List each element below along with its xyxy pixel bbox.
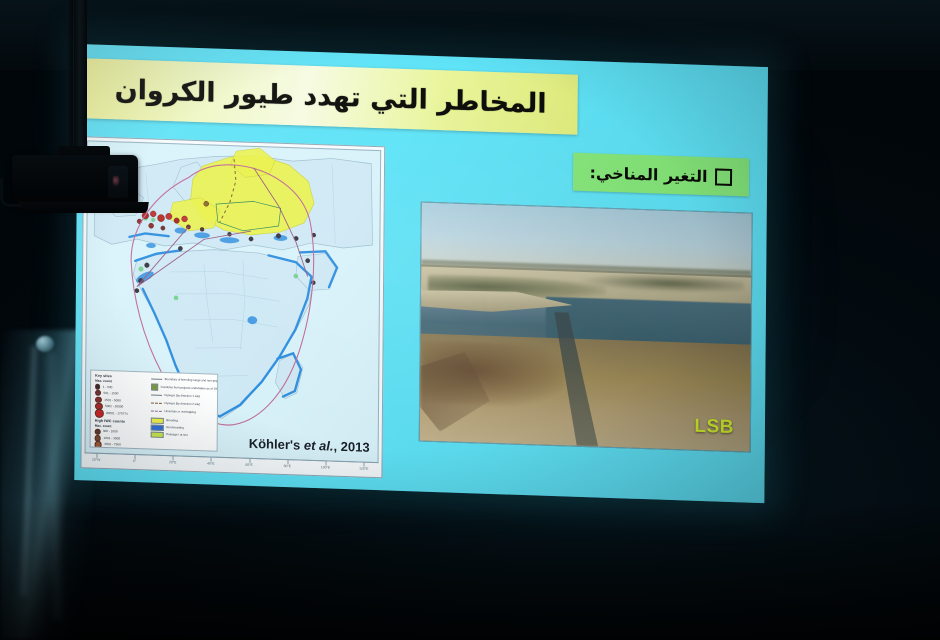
slide-title-band: المخاطر التي تهدد طيور الكروان: [83, 58, 578, 135]
legend-line-label: Uncertain or overlapping: [164, 410, 196, 415]
legend-swatch-breeding: [151, 417, 164, 424]
legend-line-item: Uncertain or overlapping: [151, 408, 213, 417]
caption-author: Köhler's: [249, 436, 304, 453]
projector-pole-shadow: [67, 0, 73, 148]
axis-tick-label: 20°W: [92, 458, 100, 462]
axis-tick-label: 60°E: [245, 463, 252, 467]
legend-swatch-item: Passage / at sea: [151, 432, 213, 440]
legend-line-label: Flyways (by direction 2 site): [164, 402, 200, 407]
slide-title: المخاطر التي تهدد طيور الكروان: [115, 74, 547, 119]
legend-label: 20001 - 170774: [106, 412, 128, 416]
legend-line-label: Countries from projects undertaken as of…: [161, 386, 219, 391]
legend-column-lines: Boundary of breeding range and non-popul…: [151, 376, 214, 448]
callout-climate-change: التغير المناخي:: [573, 153, 749, 197]
legend-label: 3001 - 7500: [104, 443, 121, 447]
legend-swatch-nonbreeding: [151, 424, 164, 431]
legend-dot-icon: [95, 409, 104, 418]
checkbox-icon: [715, 168, 732, 186]
map-legend: Key sites Max. count 1 - 500 501 - 1500: [90, 370, 219, 452]
legend-swatch-label: Breeding: [166, 419, 178, 423]
callout-text: التغير المناخي:: [589, 163, 707, 186]
legend-item: 20001 - 170774: [95, 410, 148, 417]
legend-column-sites: Key sites Max. count 1 - 500 501 - 1500: [95, 374, 149, 446]
legend-line-label: Flyways (by direction 1 site): [165, 394, 201, 399]
legend-label: 1501 - 5000: [104, 398, 121, 402]
axis-tick-label: 80°E: [284, 464, 291, 468]
legend-dot-icon: [95, 390, 101, 396]
photo-site-label: LSB: [694, 416, 734, 439]
legend-marker-icon: [151, 384, 158, 391]
legend-solid-line-icon: [151, 395, 162, 396]
caption-etal: et al.: [304, 438, 334, 454]
legend-line-label: Boundary of breeding range and non-popul…: [165, 378, 219, 384]
caption-year: , 2013: [333, 439, 369, 455]
legend-label: 300 - 1000: [103, 430, 118, 434]
legend-dashed-line-icon: [151, 403, 162, 404]
legend-label: 1001 - 3000: [104, 437, 121, 441]
room-scene: المخاطر التي تهدد طيور الكروان التغير ال…: [0, 0, 940, 640]
legend-dashdot-line-icon: [151, 411, 162, 412]
legend-label: 501 - 1500: [104, 392, 119, 396]
legend-label: 5001 - 20000: [105, 405, 123, 409]
axis-tick-label: 0°: [133, 459, 136, 463]
axis-tick-label: 20°E: [169, 460, 176, 464]
legend-solid-line-icon: [151, 379, 162, 380]
presentation-slide: المخاطر التي تهدد طيور الكروان التغير ال…: [74, 44, 768, 503]
legend-label: 1 - 500: [103, 385, 113, 388]
legend-dot-icon: [95, 441, 102, 448]
axis-tick-label: 120°E: [359, 467, 368, 471]
axis-tick-label: 40°E: [207, 461, 214, 465]
legend-dot-icon: [95, 429, 101, 435]
axis-tick-label: 100°E: [321, 465, 330, 469]
projector-cable: [0, 178, 21, 207]
projector-base-plate: [17, 202, 149, 213]
projector-mount-pole: [74, 0, 87, 152]
projection-screen: المخاطر التي تهدد طيور الكروان التغير ال…: [0, 0, 940, 640]
legend-swatch-label: Non-breeding: [166, 426, 184, 430]
legend-dot-icon: [95, 384, 100, 389]
wetland-photo: LSB: [419, 202, 753, 453]
legend-swatch-label: Passage / at sea: [166, 433, 188, 437]
projector-lens-icon: [113, 176, 119, 188]
legend-swatch-passage: [151, 431, 164, 438]
